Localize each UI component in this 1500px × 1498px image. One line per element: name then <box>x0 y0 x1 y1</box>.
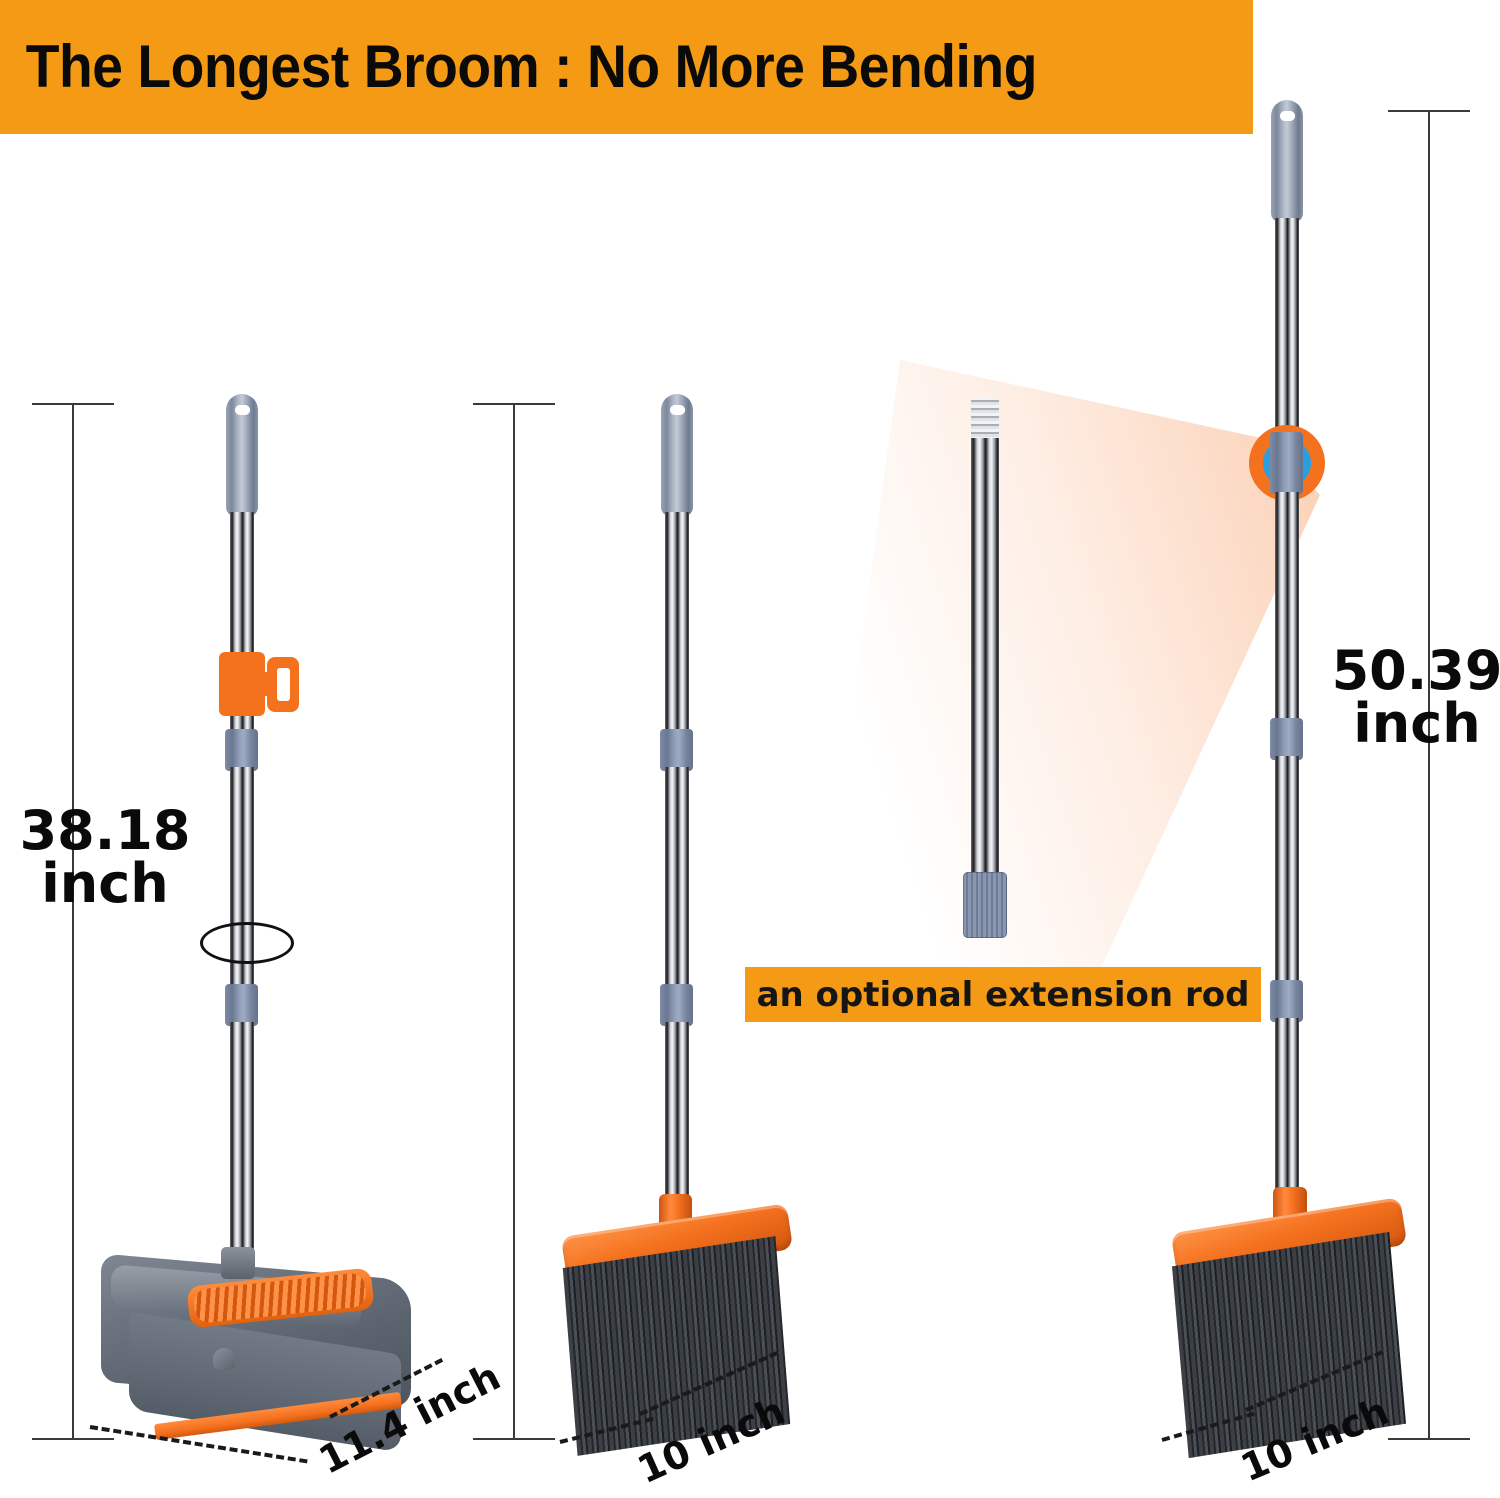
dimension-line-mid <box>513 403 515 1440</box>
hang-hole-icon-3 <box>1280 111 1295 121</box>
orange-clip-notch <box>277 668 290 701</box>
extension-rod-threaded-tip <box>971 397 999 441</box>
dimension-value-50: 50.39 <box>1322 645 1500 698</box>
pole-connector-sleeve-3c <box>1270 980 1303 1022</box>
header-banner: The Longest Broom : No More Bending <box>0 0 1253 134</box>
extension-rod-ribbed-cap <box>963 872 1007 938</box>
telescoping-pole-3-upper <box>1275 218 1299 440</box>
telescoping-pole-2-lower <box>665 1022 689 1212</box>
dustpan-latch-knob <box>213 1348 235 1370</box>
telescoping-pole-3-bottom <box>1275 1018 1299 1208</box>
rotation-ellipse-icon <box>200 922 294 964</box>
extension-rod-tube <box>971 438 999 878</box>
page-title: The Longest Broom : No More Bending <box>0 37 1037 97</box>
hang-hole-icon-2 <box>670 405 685 415</box>
dimension-tick-bottom-mid <box>473 1438 555 1440</box>
extension-rod-caption: an optional extension rod <box>757 975 1250 1015</box>
pole-connector-sleeve-2b <box>660 984 693 1026</box>
broom-head-2 <box>555 1190 845 1460</box>
infographic-canvas: The Longest Broom : No More Bending 38.1… <box>0 0 1500 1498</box>
dimension-label-38: 38.18 inch <box>10 805 200 911</box>
pole-connector-sleeve-2a <box>660 729 693 771</box>
dimension-unit-38: inch <box>10 858 200 911</box>
dimension-unit-50: inch <box>1322 698 1500 751</box>
telescoping-pole-3-lower <box>1275 756 1299 984</box>
telescoping-pole-2-middle <box>665 767 689 989</box>
telescoping-pole-2-upper <box>665 512 689 734</box>
pole-connector-sleeve-3a <box>1270 432 1303 494</box>
dimension-line-left <box>72 403 74 1440</box>
telescoping-pole-3-middle <box>1275 492 1299 722</box>
pole-connector-sleeve-3b <box>1270 718 1303 760</box>
highlight-beam <box>800 330 1320 1010</box>
dimension-value-38: 38.18 <box>10 805 200 858</box>
extension-rod-caption-banner: an optional extension rod <box>745 967 1261 1022</box>
pole-connector-sleeve-1a <box>225 729 258 771</box>
dimension-label-50: 50.39 inch <box>1322 645 1500 751</box>
pole-connector-sleeve-1b <box>225 984 258 1026</box>
dustpan-handle-socket <box>221 1247 255 1279</box>
telescoping-pole-1-lower <box>230 1022 254 1260</box>
hang-hole-icon-1 <box>235 405 250 415</box>
